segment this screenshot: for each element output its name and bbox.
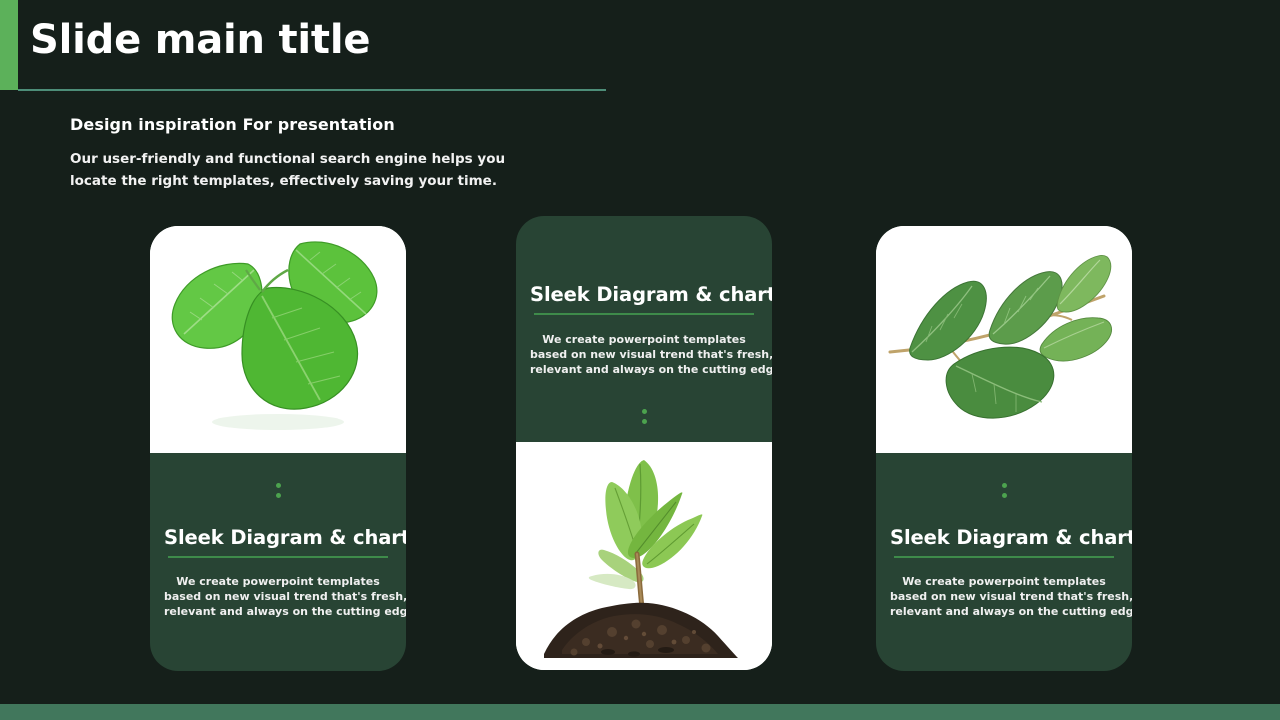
feature-card-2[interactable]: Sleek Diagram & chart We create powerpoi…: [516, 216, 772, 670]
card-3-title: Sleek Diagram & chart: [890, 526, 1118, 549]
card-2-desc-line-2: based on new visual trend that's fresh,: [530, 347, 758, 362]
card-2-title-rule: [534, 313, 754, 315]
card-1-title-rule: [168, 556, 388, 558]
card-1-desc-line-1: We create powerpoint templates: [164, 574, 392, 589]
card-1-desc-line-2: based on new visual trend that's fresh,: [164, 589, 392, 604]
two-dots-icon: [890, 483, 1118, 498]
two-dots-icon: [530, 409, 758, 424]
card-3-desc-line-3: relevant and always on the cutting edge.: [890, 604, 1118, 619]
leaf-branch-photo: [876, 226, 1132, 453]
title-accent-bar: [0, 0, 18, 90]
card-1-body: Sleek Diagram & chart We create powerpoi…: [150, 453, 406, 671]
card-2-description: We create powerpoint templates based on …: [530, 332, 758, 377]
slide-canvas: Slide main title Design inspiration For …: [0, 0, 1280, 720]
page-title: Slide main title: [30, 17, 370, 63]
feature-card-3[interactable]: Sleek Diagram & chart We create powerpoi…: [876, 226, 1132, 671]
card-3-desc-line-1: We create powerpoint templates: [890, 574, 1118, 589]
card-3-body: Sleek Diagram & chart We create powerpoi…: [876, 453, 1132, 671]
card-1-description: We create powerpoint templates based on …: [164, 574, 392, 619]
card-2-desc-line-3: relevant and always on the cutting edge.: [530, 362, 758, 377]
card-3-description: We create powerpoint templates based on …: [890, 574, 1118, 619]
leaf-branch-illustration: [876, 226, 1132, 453]
card-3-desc-line-2: based on new visual trend that's fresh,: [890, 589, 1118, 604]
card-1-desc-line-3: relevant and always on the cutting edge.: [164, 604, 392, 619]
card-3-title-rule: [894, 556, 1114, 558]
mint-leaves-photo: [150, 226, 406, 453]
two-dots-icon: [164, 483, 392, 498]
seedling-illustration: [516, 442, 772, 670]
footer-strip: [0, 704, 1280, 720]
intro-line-1: Our user-friendly and functional search …: [70, 148, 540, 170]
slide-subtitle: Design inspiration For presentation: [70, 115, 395, 134]
title-divider: [18, 89, 606, 91]
slide-intro-text: Our user-friendly and functional search …: [70, 148, 540, 192]
mint-leaves-illustration: [150, 226, 406, 453]
intro-line-2: locate the right templates, effectively …: [70, 170, 540, 192]
feature-card-1[interactable]: Sleek Diagram & chart We create powerpoi…: [150, 226, 406, 671]
card-2-body: Sleek Diagram & chart We create powerpoi…: [516, 216, 772, 442]
card-2-title: Sleek Diagram & chart: [530, 283, 758, 306]
card-1-title: Sleek Diagram & chart: [164, 526, 392, 549]
card-2-desc-line-1: We create powerpoint templates: [530, 332, 758, 347]
seedling-in-soil-photo: [516, 442, 772, 670]
